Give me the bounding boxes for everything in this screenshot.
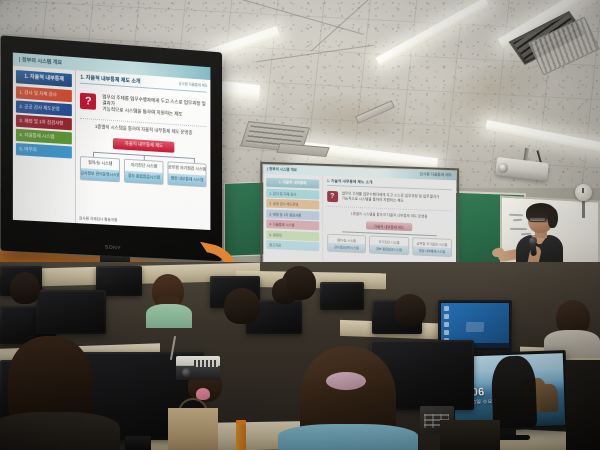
tv-node-1: 절차/능 시스템 감사정보 관리운영시스템 [80, 156, 120, 182]
glasses-icon [529, 217, 546, 222]
tv-sidebar-item-2[interactable]: 2. 공공 감사 제도운영 [16, 100, 72, 116]
tv-node-3: 공무원 자기점검 시스템 행정 내부통제 시스템 [168, 161, 207, 187]
hair-scrunchie [326, 372, 366, 390]
paper-bag [168, 408, 218, 450]
camera-lens-icon [182, 368, 191, 377]
tv-slide-main: 1. 자율적 내부통제 제도 소개 감사원 자율통제 제도 ? 업무의 주체를 … [75, 70, 210, 230]
desktop-icon[interactable] [444, 330, 449, 335]
wall-clock-stem [582, 200, 585, 218]
tree-connector-drop [194, 158, 195, 163]
classroom-photo-scene: | 정부의 시스템 개요 감사원 자율통제 제도 1. 자율적 내부통제 1. … [0, 0, 600, 450]
bottle [236, 424, 246, 450]
tv-sidebar-item-5[interactable]: 5. 마무리 [16, 143, 72, 159]
clock-hand [582, 188, 584, 193]
audience-head [10, 272, 40, 304]
tv-slide-topbar-left: | 정부의 시스템 개요 [19, 56, 62, 66]
desk-front-panel [440, 420, 500, 450]
television-screen: | 정부의 시스템 개요 1. 자율적 내부통제 1. 감사 및 자체 감사 2… [13, 53, 211, 230]
question-mark-icon: ? [80, 93, 96, 110]
tv-sidebar-item-3[interactable]: 3. 재정 및 1차 점검사항 [16, 115, 72, 131]
audience-shoulders-foreground [0, 412, 120, 450]
person-silhouette-foreground [491, 355, 537, 428]
windows-logo-icon [466, 322, 485, 332]
monitor [36, 290, 106, 334]
desktop-icon[interactable] [444, 314, 449, 319]
tv-sidebar-item-4[interactable]: 4. 자율통제 시스템 [16, 129, 72, 145]
audience-shoulders [146, 304, 192, 328]
tv-slide-logo: 감사원 자체감사 활동지원 [79, 216, 117, 223]
monitor-stand [125, 436, 151, 450]
audience-head [224, 288, 260, 324]
tree-connector-drop [144, 154, 145, 159]
equipment-label-strip [194, 360, 218, 367]
tv-sidebar-title: 1. 자율적 내부통제 [16, 70, 72, 87]
tv-node-2: 자기진단 시스템 정부 종합점검시스템 [124, 158, 163, 184]
lockscreen-wallpaper-rock [540, 384, 559, 413]
tree-connector-drop [93, 151, 94, 156]
chair-back [566, 360, 600, 450]
monitor [320, 282, 364, 310]
tv-slide: | 정부의 시스템 개요 1. 자율적 내부통제 1. 감사 및 자체 감사 2… [13, 53, 211, 230]
audience-shoulders-foreground [278, 424, 418, 450]
audience-head [286, 268, 316, 298]
tv-sidebar-item-1[interactable]: 1. 감사 및 자체 감사 [16, 86, 72, 102]
audience-head [394, 294, 426, 326]
desktop-icon[interactable] [444, 322, 449, 327]
wall-clock [575, 184, 592, 201]
tv-slide-sidebar: 1. 자율적 내부통제 1. 감사 및 자체 감사 2. 공공 감사 제도운영 … [13, 66, 75, 223]
desktop-icon[interactable] [444, 306, 449, 311]
tv-q-subtitle: 1층별의 시스템을 통하여 자율적 내부통제 제도 운영중 [80, 117, 206, 136]
presenter-hair-side [548, 208, 558, 228]
tv-node-root: 자율적 내부통제 제도 [113, 138, 174, 153]
